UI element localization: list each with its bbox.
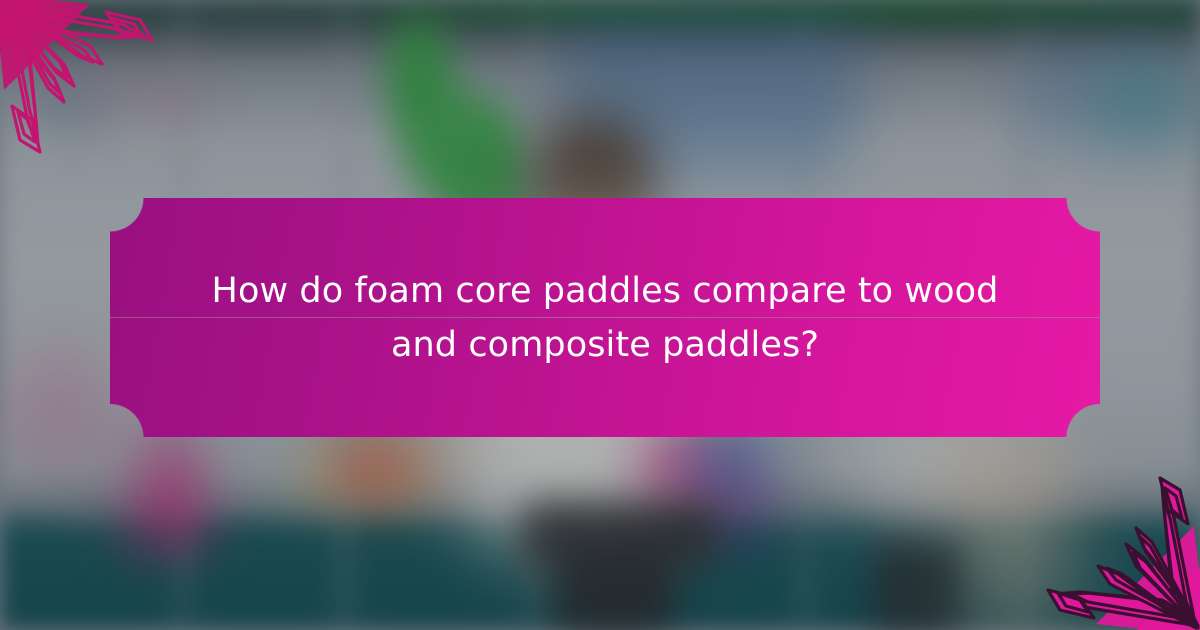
share-card-canvas: How do foam core paddles compare to wood…: [0, 0, 1200, 630]
page-title: How do foam core paddles compare to wood…: [180, 263, 1030, 372]
headline-panel: How do foam core paddles compare to wood…: [110, 198, 1100, 437]
